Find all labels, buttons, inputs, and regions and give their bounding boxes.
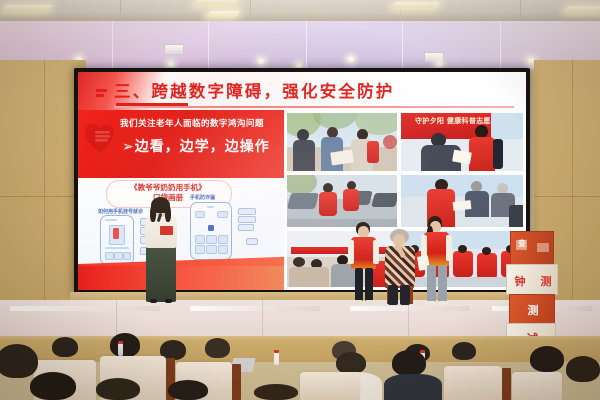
cube-character: 测 [522, 302, 544, 318]
callout-chip [246, 238, 258, 245]
red-double-dash-icon [96, 89, 107, 92]
audience-shoulders [384, 374, 442, 400]
stage-edge-trim [0, 336, 600, 341]
audience-head [0, 344, 38, 378]
cube-character: 测 [537, 273, 555, 289]
elderly-legs [388, 285, 398, 305]
red-double-dash-icon [96, 94, 104, 97]
downlight [168, 62, 174, 67]
slide-headline: 我们关注老年人面临的数字鸿沟问题 [120, 117, 280, 129]
volunteer-arm [446, 235, 452, 261]
ceiling-tile [250, 0, 401, 22]
volunteer-shoe [426, 301, 436, 305]
floor-light-strip [10, 306, 160, 311]
audience-head [168, 380, 208, 400]
ceiling-soffit [0, 21, 600, 69]
downlight [258, 59, 264, 64]
audience-head [566, 356, 600, 382]
ceiling-strip-light [2, 5, 51, 11]
cube-1: 查 [510, 231, 554, 265]
presenter-skirt [146, 244, 176, 302]
cube-3: 测 [509, 294, 555, 324]
presenter-hair [150, 206, 156, 222]
cube-character: 查 [515, 238, 529, 249]
callout-chip [238, 216, 256, 223]
presenter-red-card [160, 226, 173, 235]
volunteer-arm [348, 240, 354, 264]
audience-chair [512, 372, 562, 400]
presenter-hair [165, 206, 171, 222]
water-bottle [118, 343, 123, 356]
volunteer-legs [355, 268, 363, 302]
presenter-shoe [165, 299, 172, 303]
collage-photo: 守护夕阳 健康科普志愿服务 [400, 112, 524, 172]
photo-scene: 三、跨越数字障碍，强化安全防护 我们关注老年人面临的数字鸿沟问题 ➢边看，边学，… [0, 0, 600, 400]
phone-mockup-right [190, 202, 232, 260]
soffit-seam [402, 21, 403, 69]
audience-head [530, 346, 564, 372]
slide-red-panel: 我们关注老年人面临的数字鸿沟问题 ➢边看，边学，边操作 [78, 110, 284, 178]
ceiling-strip-light [392, 2, 439, 8]
floor-light-strip [190, 306, 320, 311]
title-rule [114, 106, 514, 108]
audience-head [52, 337, 78, 357]
volunteer-shoe [354, 300, 363, 304]
collage-photo [286, 174, 398, 228]
cube-character: 钟 [511, 273, 529, 289]
soffit-seam [112, 21, 113, 69]
audience-chair [444, 366, 502, 400]
heart-hand-watermark-icon [82, 118, 122, 158]
downlight [436, 62, 442, 67]
volunteer-arm [373, 240, 379, 264]
bottle-cap [420, 350, 425, 353]
water-bottle [274, 352, 279, 365]
collage-photo [286, 112, 398, 172]
audience-chair [300, 372, 360, 400]
bottle-cap [118, 341, 123, 344]
chair-side-panel [502, 368, 511, 400]
phone-mockup-caption: 手机防诈骗 [190, 194, 215, 201]
downlight [348, 57, 354, 62]
slide-white-panel: 《教爷爷奶奶用手机》 口袋画册 如何用手机挂号就诊 手机防诈骗 [78, 178, 284, 266]
audience-head [254, 384, 298, 400]
slide-title: 三、跨越数字障碍，强化安全防护 [114, 80, 514, 104]
audience-head [392, 350, 426, 376]
ceiling-tile [0, 0, 121, 22]
ceiling-strip-light [564, 6, 600, 12]
phone-mockup-left [100, 215, 134, 265]
audience-head [30, 372, 76, 400]
callout-chip [238, 224, 254, 231]
slide-subheadline: ➢边看，边学，边操作 [122, 136, 284, 156]
soffit-seam [500, 21, 501, 69]
soffit-seam [306, 21, 307, 69]
recessed-square-light [424, 52, 444, 63]
volunteer-legs [427, 265, 436, 303]
audience-head [205, 338, 230, 358]
presenter-shoe [150, 299, 157, 303]
bottle-cap [274, 350, 279, 353]
floor-light-strip [350, 306, 470, 311]
audience-head [96, 378, 140, 400]
collage-photo [400, 174, 524, 228]
phone-mockup-caption: 如何用手机挂号就诊 [98, 208, 143, 215]
audience-head [336, 352, 366, 374]
volunteer-legs [438, 265, 447, 303]
ceiling-strip-light [206, 11, 239, 17]
elderly-legs [400, 285, 410, 305]
cube-2: 钟 测 [506, 264, 558, 295]
chair-side-panel [232, 364, 241, 400]
callout-chip [238, 208, 256, 215]
audience-head [110, 333, 140, 357]
volunteer-shoe [365, 300, 374, 304]
ceiling-strip-light [194, 0, 237, 5]
soffit-seam [208, 21, 209, 69]
slide-bottom-bar [78, 266, 284, 290]
collage-photo [286, 230, 398, 288]
wall-seam [534, 196, 600, 197]
recessed-square-light [164, 44, 184, 55]
volunteer-legs [365, 268, 373, 302]
volunteer-shoe [438, 301, 448, 305]
audience-head [452, 342, 476, 360]
